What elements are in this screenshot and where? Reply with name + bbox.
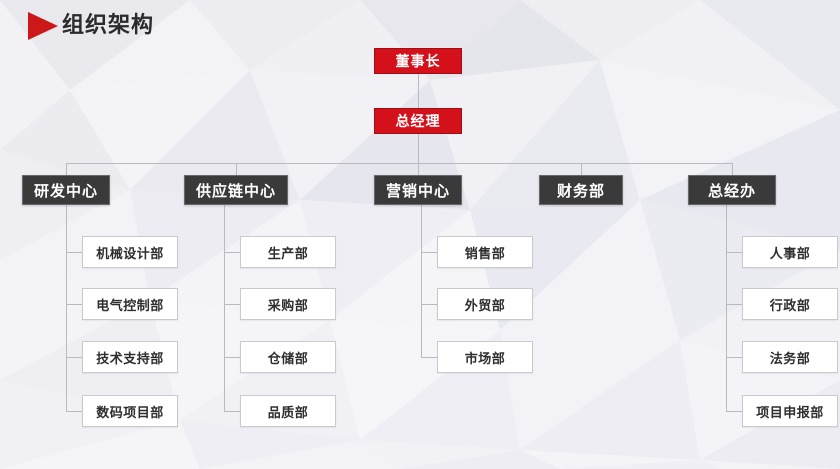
node-sub-procurement[interactable]: 采购部 [240, 288, 336, 320]
node-sub-warehouse-label: 仓储部 [268, 348, 309, 367]
node-dept-marketing-label: 营销中心 [386, 180, 450, 201]
node-dept-finance[interactable]: 财务部 [539, 175, 623, 205]
node-sub-quality-label: 品质部 [268, 402, 309, 421]
node-sub-mechanical-design[interactable]: 机械设计部 [82, 236, 178, 268]
node-sub-legal-affairs-label: 法务部 [770, 348, 811, 367]
node-sub-warehouse[interactable]: 仓储部 [240, 341, 336, 373]
node-sub-procurement-label: 采购部 [268, 295, 309, 314]
node-dept-marketing[interactable]: 营销中心 [374, 175, 462, 205]
node-sub-human-resources[interactable]: 人事部 [742, 236, 838, 268]
node-sub-project-application[interactable]: 项目申报部 [742, 395, 838, 427]
node-dept-rd-label: 研发中心 [34, 180, 98, 201]
play-triangle-icon [28, 12, 58, 40]
node-sub-mechanical-design-label: 机械设计部 [96, 243, 164, 262]
node-sub-production-label: 生产部 [268, 243, 309, 262]
node-sub-digital-project[interactable]: 数码项目部 [82, 395, 178, 427]
node-sub-quality[interactable]: 品质部 [240, 395, 336, 427]
node-sub-administration[interactable]: 行政部 [742, 288, 838, 320]
node-sub-foreign-trade[interactable]: 外贸部 [437, 288, 533, 320]
node-sub-electrical-control[interactable]: 电气控制部 [82, 288, 178, 320]
node-general-manager[interactable]: 总经理 [374, 108, 462, 134]
page-title: 组织架构 [62, 10, 154, 40]
node-dept-supply-chain-label: 供应链中心 [196, 180, 276, 201]
node-dept-finance-label: 财务部 [557, 180, 605, 201]
node-sub-market[interactable]: 市场部 [437, 341, 533, 373]
node-sub-digital-project-label: 数码项目部 [96, 402, 164, 421]
node-dept-supply-chain[interactable]: 供应链中心 [184, 175, 288, 205]
node-sub-sales-label: 销售部 [465, 243, 506, 262]
node-sub-project-application-label: 项目申报部 [756, 402, 824, 421]
node-sub-technical-support[interactable]: 技术支持部 [82, 341, 178, 373]
node-chairman[interactable]: 董事长 [374, 48, 462, 74]
node-sub-legal-affairs[interactable]: 法务部 [742, 341, 838, 373]
node-sub-electrical-control-label: 电气控制部 [96, 295, 164, 314]
page-title-bar: 组织架构 [0, 0, 840, 48]
node-sub-technical-support-label: 技术支持部 [96, 348, 164, 367]
node-sub-production[interactable]: 生产部 [240, 236, 336, 268]
node-general-manager-label: 总经理 [396, 111, 441, 131]
node-dept-rd[interactable]: 研发中心 [22, 175, 110, 205]
node-sub-human-resources-label: 人事部 [770, 243, 811, 262]
node-sub-market-label: 市场部 [465, 348, 506, 367]
node-sub-administration-label: 行政部 [770, 295, 811, 314]
node-dept-gm-office-label: 总经办 [708, 180, 756, 201]
node-chairman-label: 董事长 [396, 51, 441, 71]
org-chart-slide: 组织架构 [0, 0, 840, 469]
node-sub-foreign-trade-label: 外贸部 [465, 295, 506, 314]
node-sub-sales[interactable]: 销售部 [437, 236, 533, 268]
node-dept-gm-office[interactable]: 总经办 [688, 175, 776, 205]
